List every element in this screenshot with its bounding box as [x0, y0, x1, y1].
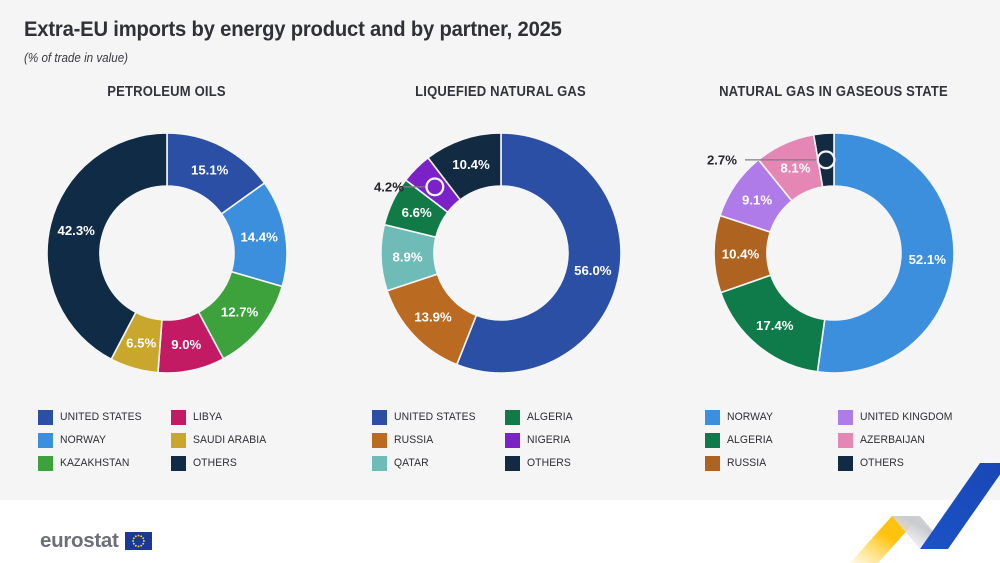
legend-swatch-icon: [838, 433, 853, 448]
legend-label: NIGERIA: [527, 434, 570, 446]
legend-swatch-icon: [372, 433, 387, 448]
legend-swatch-icon: [705, 433, 720, 448]
legend-label: NORWAY: [60, 434, 106, 446]
legend-item[interactable]: LIBYA: [171, 406, 296, 428]
page-subtitle: (% of trade in value): [24, 51, 128, 65]
chart-title: NATURAL GAS IN GASEOUS STATE: [684, 84, 984, 100]
legend-label: RUSSIA: [727, 457, 766, 469]
legend-item[interactable]: KAZAKHSTAN: [38, 452, 163, 474]
legend-item[interactable]: NORWAY: [38, 429, 163, 451]
donut-chart: 15.1%14.4%12.7%9.0%6.5%42.3%: [22, 108, 312, 398]
legend-swatch-icon: [38, 410, 53, 425]
slice-value-label: 9.1%: [742, 192, 772, 207]
legend-swatch-icon: [505, 433, 520, 448]
legend-label: LIBYA: [193, 411, 222, 423]
legend-swatch-icon: [38, 456, 53, 471]
legend-label: UNITED STATES: [60, 411, 142, 423]
legend-label: OTHERS: [860, 457, 904, 469]
page-title: Extra-EU imports by energy product and b…: [24, 17, 562, 42]
legend-swatch-icon: [372, 410, 387, 425]
eurostat-logo: eurostat: [40, 529, 152, 553]
slice-value-label: 9.0%: [171, 337, 201, 352]
slice-value-label: 52.1%: [908, 252, 946, 267]
legend-swatch-icon: [705, 456, 720, 471]
slice-value-label: 42.3%: [57, 223, 95, 238]
callout-marker-dot[interactable]: [427, 180, 441, 194]
chart-panel-liquefied-natural-gas: LIQUEFIED NATURAL GAS 56.0%13.9%8.9%6.6%…: [334, 84, 667, 494]
legend-label: ALGERIA: [727, 434, 773, 446]
legend-item[interactable]: OTHERS: [505, 452, 630, 474]
donut-chart: 52.1%17.4%10.4%9.1%8.1%2.7%: [689, 108, 979, 398]
legend-item[interactable]: UNITED STATES: [372, 406, 497, 428]
slice-value-label: 10.4%: [721, 246, 759, 261]
chart-title: LIQUEFIED NATURAL GAS: [351, 84, 651, 100]
chart-legend: NORWAYUNITED KINGDOMALGERIAAZERBAIJANRUS…: [705, 406, 963, 474]
callout-value-label: 2.7%: [706, 152, 736, 167]
legend-label: KAZAKHSTAN: [60, 457, 129, 469]
chart-legend: UNITED STATESLIBYANORWAYSAUDI ARABIAKAZA…: [38, 406, 296, 474]
legend-swatch-icon: [505, 410, 520, 425]
legend-item[interactable]: OTHERS: [838, 452, 963, 474]
legend-label: RUSSIA: [394, 434, 433, 446]
legend-swatch-icon: [372, 456, 387, 471]
slice-value-label: 14.4%: [240, 230, 278, 245]
slice-value-label: 15.1%: [191, 162, 229, 177]
slice-value-label: 8.1%: [780, 160, 810, 175]
legend-swatch-icon: [505, 456, 520, 471]
legend-item[interactable]: RUSSIA: [372, 429, 497, 451]
callout-value-label: 4.2%: [373, 179, 403, 194]
slice-value-label: 6.6%: [401, 205, 431, 220]
legend-label: UNITED STATES: [394, 411, 476, 423]
legend-item[interactable]: ALGERIA: [505, 406, 630, 428]
legend-item[interactable]: NORWAY: [705, 406, 830, 428]
legend-item[interactable]: RUSSIA: [705, 452, 830, 474]
legend-label: SAUDI ARABIA: [193, 434, 266, 446]
slice-value-label: 12.7%: [220, 304, 258, 319]
chart-panel-petroleum-oils: PETROLEUM OILS 15.1%14.4%12.7%9.0%6.5%42…: [0, 84, 333, 494]
legend-swatch-icon: [838, 456, 853, 471]
legend-item[interactable]: ALGERIA: [705, 429, 830, 451]
chart-title: PETROLEUM OILS: [17, 84, 317, 100]
legend-swatch-icon: [838, 410, 853, 425]
legend-swatch-icon: [171, 456, 186, 471]
legend-item[interactable]: NIGERIA: [505, 429, 630, 451]
legend-label: ALGERIA: [527, 411, 573, 423]
legend-label: QATAR: [394, 457, 429, 469]
callout-marker-dot[interactable]: [818, 153, 832, 167]
legend-swatch-icon: [171, 410, 186, 425]
slice-value-label: 56.0%: [574, 263, 612, 278]
legend-swatch-icon: [38, 433, 53, 448]
legend-label: OTHERS: [527, 457, 571, 469]
donut-chart: 56.0%13.9%8.9%6.6%10.4%4.2%: [356, 108, 646, 398]
legend-label: OTHERS: [193, 457, 237, 469]
slice-value-label: 13.9%: [414, 310, 452, 325]
legend-label: UNITED KINGDOM: [860, 411, 953, 423]
legend-label: AZERBAIJAN: [860, 434, 925, 446]
legend-label: NORWAY: [727, 411, 773, 423]
legend-item[interactable]: AZERBAIJAN: [838, 429, 963, 451]
legend-item[interactable]: UNITED KINGDOM: [838, 406, 963, 428]
slice-value-label: 17.4%: [756, 318, 794, 333]
slice-value-label: 6.5%: [126, 335, 156, 350]
chart-legend: UNITED STATESALGERIARUSSIANIGERIAQATAROT…: [372, 406, 630, 474]
slice-value-label: 8.9%: [392, 249, 422, 264]
legend-item[interactable]: UNITED STATES: [38, 406, 163, 428]
chart-panel-natural-gas-gaseous-state: NATURAL GAS IN GASEOUS STATE 52.1%17.4%1…: [667, 84, 1000, 494]
eu-flag-icon: [125, 532, 152, 550]
legend-item[interactable]: SAUDI ARABIA: [171, 429, 296, 451]
eurostat-wordmark: eurostat: [40, 529, 118, 553]
legend-swatch-icon: [705, 410, 720, 425]
infographic-root: Extra-EU imports by energy product and b…: [0, 0, 1000, 563]
legend-item[interactable]: QATAR: [372, 452, 497, 474]
legend-item[interactable]: OTHERS: [171, 452, 296, 474]
legend-swatch-icon: [171, 433, 186, 448]
slice-value-label: 10.4%: [452, 157, 490, 172]
